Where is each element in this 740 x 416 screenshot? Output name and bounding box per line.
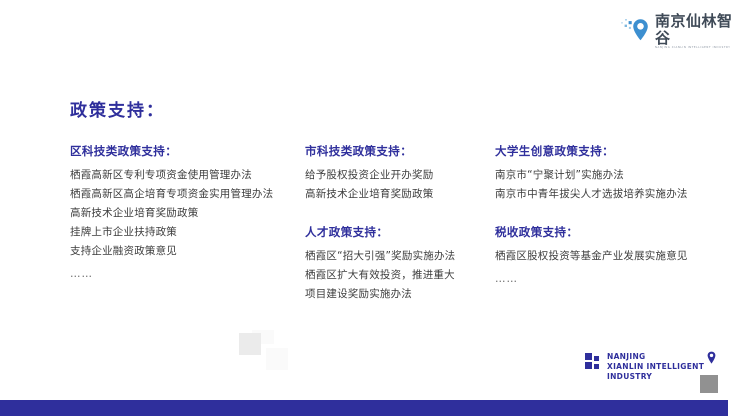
policy-group-city-tech: 市科技类政策支持： 给予股权投资企业开办奖励 高新技术企业培育奖励政策	[305, 143, 495, 204]
group-item-list: 栖霞区“招大引强”奖励实施办法 栖霞区扩大有效投资，推进重大 项目建设奖励实施办…	[305, 247, 495, 304]
brand-logo-footer: NANJING XIANLIN INTELLIGENT INDUSTRY	[585, 352, 718, 382]
map-pin-icon	[620, 17, 650, 45]
brand-logo-top: 南京仙林智谷 NANJING XIANLIN INTELLIGENT INDUS…	[620, 13, 740, 50]
slide-canvas: 南京仙林智谷 NANJING XIANLIN INTELLIGENT INDUS…	[0, 0, 740, 416]
list-item: 项目建设奖励实施办法	[305, 285, 495, 304]
group-item-list: 南京市“宁聚计划”实施办法 南京市中青年拔尖人才选拔培养实施办法	[495, 166, 710, 204]
group-heading: 人才政策支持：	[305, 224, 495, 240]
group-item-list: 栖霞高新区专利专项资金使用管理办法 栖霞高新区高企培育专项资金实用管理办法 高新…	[70, 166, 305, 284]
list-item: 给予股权投资企业开办奖励	[305, 166, 495, 185]
footer-brand-line-3: INDUSTRY	[607, 372, 704, 382]
bottom-accent-bar	[0, 400, 728, 416]
list-item: 栖霞区股权投资等基金产业发展实施意见	[495, 247, 710, 266]
policy-group-district-tech: 区科技类政策支持： 栖霞高新区专利专项资金使用管理办法 栖霞高新区高企培育专项资…	[70, 143, 305, 284]
list-item: 挂牌上市企业扶持政策	[70, 223, 305, 242]
policy-column-3: 大学生创意政策支持： 南京市“宁聚计划”实施办法 南京市中青年拔尖人才选拔培养实…	[495, 143, 710, 289]
list-item: 支持企业融资政策意见	[70, 242, 305, 261]
footer-brand-line-2: XIANLIN INTELLIGENT	[607, 362, 704, 372]
policy-column-1: 区科技类政策支持： 栖霞高新区专利专项资金使用管理办法 栖霞高新区高企培育专项资…	[70, 143, 305, 284]
list-item: 高新技术企业培育奖励政策	[70, 204, 305, 223]
group-heading: 区科技类政策支持：	[70, 143, 305, 159]
footer-brand-line-1: NANJING	[607, 352, 704, 362]
list-item-ellipsis: ……	[70, 261, 305, 284]
policy-group-student-innovation: 大学生创意政策支持： 南京市“宁聚计划”实施办法 南京市中青年拔尖人才选拔培养实…	[495, 143, 710, 204]
group-item-list: 给予股权投资企业开办奖励 高新技术企业培育奖励政策	[305, 166, 495, 204]
policy-columns: 区科技类政策支持： 栖霞高新区专利专项资金使用管理办法 栖霞高新区高企培育专项资…	[70, 143, 710, 304]
list-item: 栖霞区扩大有效投资，推进重大	[305, 266, 495, 285]
list-item-ellipsis: ……	[495, 266, 710, 289]
decorative-square-main	[239, 333, 261, 355]
group-item-list: 栖霞区股权投资等基金产业发展实施意见 ……	[495, 247, 710, 289]
decorative-square-bottom	[266, 348, 288, 370]
list-item: 栖霞高新区专利专项资金使用管理办法	[70, 166, 305, 185]
list-item: 南京市中青年拔尖人才选拔培养实施办法	[495, 185, 710, 204]
decorative-grey-square	[700, 375, 718, 393]
pixel-blocks-icon	[585, 353, 603, 371]
policy-column-2: 市科技类政策支持： 给予股权投资企业开办奖励 高新技术企业培育奖励政策 人才政策…	[305, 143, 495, 304]
page-title: 政策支持：	[70, 96, 165, 121]
list-item: 栖霞区“招大引强”奖励实施办法	[305, 247, 495, 266]
list-item: 高新技术企业培育奖励政策	[305, 185, 495, 204]
brand-name-cn: 南京仙林智谷	[655, 13, 740, 46]
group-heading: 大学生创意政策支持：	[495, 143, 710, 159]
map-pin-icon	[705, 350, 718, 364]
list-item: 栖霞高新区高企培育专项资金实用管理办法	[70, 185, 305, 204]
group-heading: 税收政策支持：	[495, 224, 710, 240]
list-item: 南京市“宁聚计划”实施办法	[495, 166, 710, 185]
policy-group-talent: 人才政策支持： 栖霞区“招大引强”奖励实施办法 栖霞区扩大有效投资，推进重大 项…	[305, 224, 495, 304]
brand-name-en: NANJING XIANLIN INTELLIGENT INDUSTRY	[655, 46, 740, 50]
policy-group-tax: 税收政策支持： 栖霞区股权投资等基金产业发展实施意见 ……	[495, 224, 710, 289]
group-heading: 市科技类政策支持：	[305, 143, 495, 159]
